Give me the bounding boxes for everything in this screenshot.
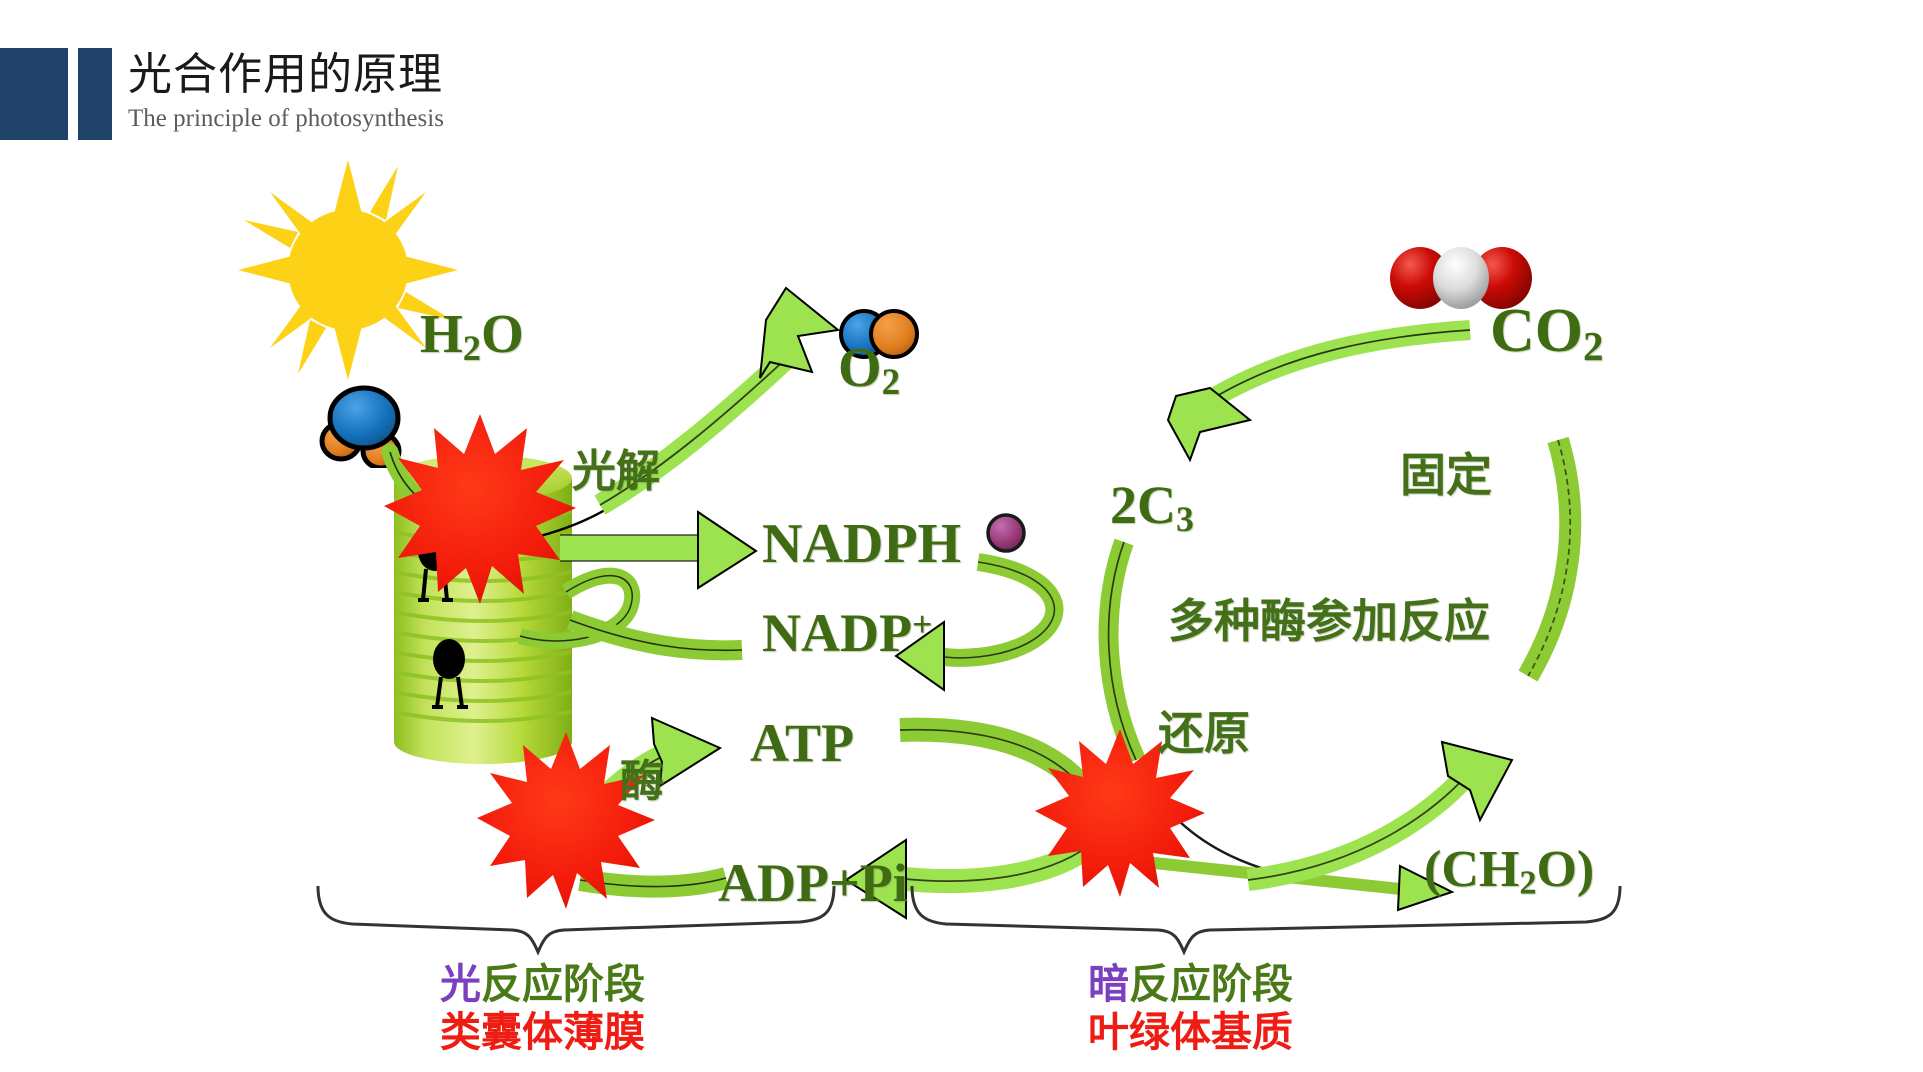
- nadp-main: NADP: [762, 603, 912, 663]
- co2-sub: 2: [1583, 324, 1603, 369]
- ch2o-pre: (CH: [1424, 841, 1519, 898]
- o2-label: O2: [838, 340, 900, 401]
- co2-main: CO: [1490, 297, 1583, 365]
- thylakoid-stack-icon: [392, 452, 574, 764]
- adp-pi-label: ADP+Pi: [718, 856, 908, 910]
- o2-main: O: [838, 337, 882, 399]
- header-text-group: 光合作用的原理 The principle of photosynthesis: [128, 50, 888, 133]
- dark-stage-location: 叶绿体基质: [1088, 1008, 1288, 1056]
- h2o-label: H2O: [420, 306, 524, 366]
- dark-stage-keyword: 暗: [1088, 960, 1129, 1008]
- photolysis-label: 光解: [572, 450, 660, 494]
- ch2o-label: (CH2O): [1424, 844, 1594, 900]
- dark-stage-caption: 暗反应阶段 叶绿体基质: [1088, 960, 1288, 1057]
- c3-sub: 3: [1176, 499, 1194, 539]
- nadph-particle-icon: [985, 512, 1027, 554]
- dark-stage-name: 暗反应阶段: [1088, 960, 1288, 1008]
- atp-label: ATP: [750, 716, 854, 770]
- nadp-plus-label: NADP+: [762, 606, 932, 660]
- page-subtitle: The principle of photosynthesis: [128, 105, 888, 133]
- accent-block-large: [0, 48, 68, 140]
- co2-label: CO2: [1490, 300, 1603, 368]
- nadph-label: NADPH: [762, 516, 961, 572]
- dark-stage-rest: 反应阶段: [1129, 960, 1293, 1008]
- light-stage-name: 光反应阶段: [440, 960, 640, 1008]
- light-stage-location: 类囊体薄膜: [440, 1008, 640, 1056]
- page-title: 光合作用的原理: [128, 50, 888, 101]
- accent-block-small: [78, 48, 112, 140]
- fixation-label: 固定: [1400, 452, 1492, 498]
- ch2o-sub: 2: [1519, 864, 1536, 902]
- many-enzymes-label: 多种酶参加反应: [1168, 598, 1490, 644]
- light-stage-rest: 反应阶段: [481, 960, 645, 1008]
- c3-label: 2C3: [1110, 478, 1194, 537]
- reduction-label: 还原: [1158, 710, 1250, 756]
- h2o-tail: O: [481, 303, 524, 364]
- h2o-main: H: [420, 303, 463, 364]
- header-accent-bar: [0, 48, 112, 140]
- h2o-sub: 2: [463, 328, 481, 368]
- light-stage-caption: 光反应阶段 类囊体薄膜: [440, 960, 640, 1057]
- nadp-sup: +: [912, 604, 932, 644]
- slide-canvas: 光合作用的原理 The principle of photosynthesis: [0, 0, 1923, 1072]
- c3-main: 2C: [1110, 475, 1176, 535]
- light-stage-keyword: 光: [440, 960, 481, 1008]
- o2-sub: 2: [882, 361, 900, 402]
- ch2o-post: O): [1536, 841, 1594, 898]
- enzyme-label: 酶: [620, 760, 664, 804]
